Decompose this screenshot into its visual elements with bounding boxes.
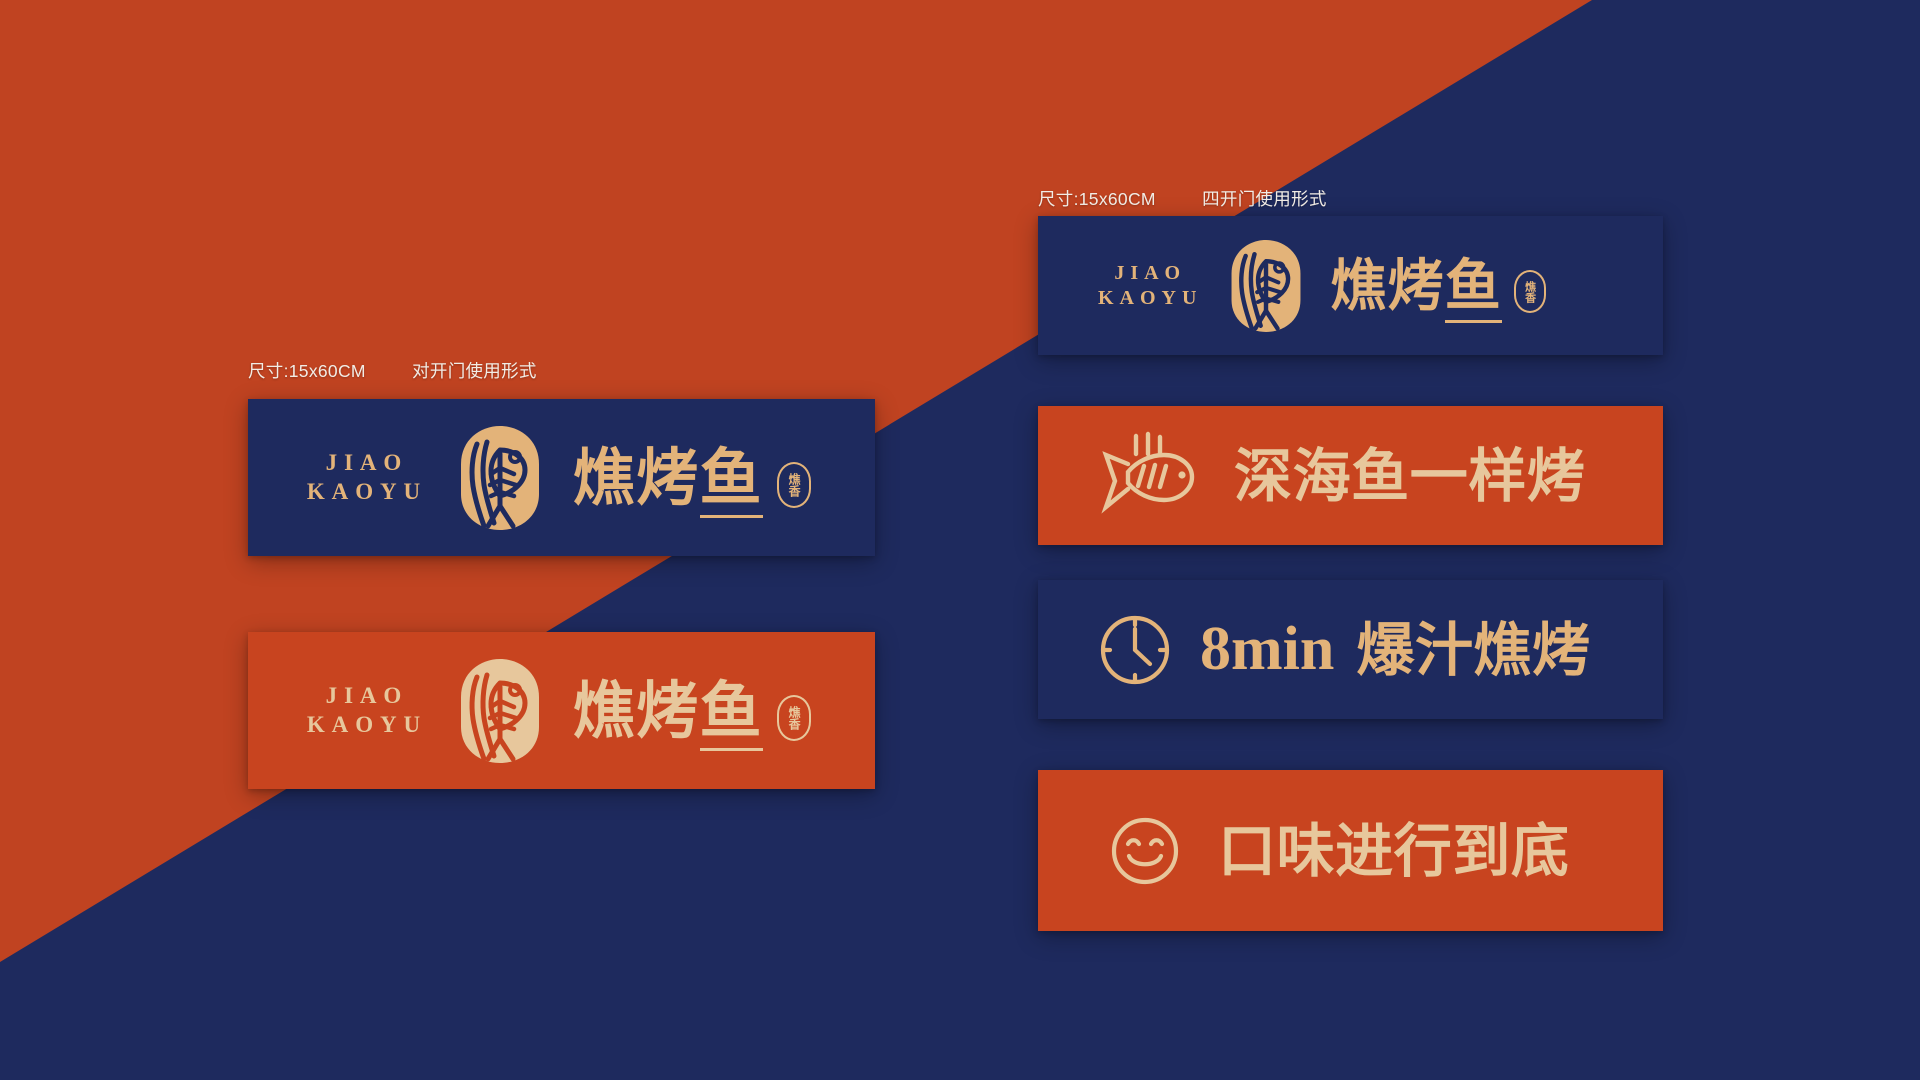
- panel-right-logo[interactable]: JIAO KAOYU 燋烤鱼: [1038, 216, 1663, 355]
- mockup-canvas: 尺寸:15x60CM 对开门使用形式 JIAO KAOYU: [0, 0, 1920, 1080]
- brand-lockup: JIAO KAOYU 燋烤鱼: [1038, 238, 1663, 334]
- caption-right-group: 尺寸:15x60CM 四开门使用形式: [1038, 186, 1327, 211]
- panel-right-slogan-deep-sea[interactable]: 深海鱼一样烤: [1038, 406, 1663, 545]
- caption-right-usage: 四开门使用形式: [1202, 189, 1327, 209]
- brand-seal-text: 燋香: [787, 706, 800, 730]
- slogan-latin: 8min: [1200, 614, 1334, 685]
- brand-pinyin: JIAO KAOYU: [1092, 261, 1202, 310]
- brand-seal-badge: 燋香: [777, 695, 811, 741]
- slogan-row: 深海鱼一样烤: [1038, 430, 1663, 522]
- clock-icon: [1096, 611, 1174, 689]
- brand-wordmark-char2: 烤: [1388, 253, 1445, 319]
- brand-wordmark-char3: 鱼: [1445, 253, 1502, 323]
- smiley-face-icon: [1108, 814, 1182, 888]
- fish-seal-emblem-icon: [457, 424, 543, 532]
- brand-pinyin: JIAO KAOYU: [300, 682, 427, 738]
- slogan-text: 爆汁燋烤: [1356, 621, 1590, 679]
- fish-with-steam-icon: [1092, 430, 1200, 522]
- fish-seal-emblem-icon: [457, 657, 543, 765]
- brand-seal-char1: 燋: [787, 706, 801, 718]
- brand-wordmark: 燋烤鱼: [573, 680, 763, 742]
- brand-seal-char1: 燋: [1524, 281, 1537, 292]
- brand-wordmark-char2: 烤: [636, 441, 699, 514]
- fish-seal-emblem-icon: [1228, 238, 1304, 334]
- brand-wordmark-char3: 鱼: [700, 441, 763, 518]
- panel-left-orange-logo[interactable]: JIAO KAOYU 燋烤鱼: [248, 632, 875, 789]
- brand-wordmark-char2: 烤: [636, 674, 699, 747]
- brand-pinyin-line2: KAOYU: [1092, 286, 1202, 310]
- brand-seal-char1: 燋: [787, 473, 801, 485]
- brand-seal-char2: 香: [1524, 292, 1537, 303]
- brand-seal-badge: 燋香: [1514, 270, 1546, 313]
- brand-wordmark: 燋烤鱼: [573, 447, 763, 509]
- brand-wordmark-char1: 燋: [573, 674, 636, 747]
- brand-pinyin-line2: KAOYU: [300, 478, 427, 506]
- brand-seal-text: 燋香: [787, 473, 800, 497]
- slogan-text: 口味进行到底: [1218, 822, 1569, 880]
- brand-wordmark-char1: 燋: [1330, 253, 1387, 319]
- brand-wordmark-char1: 燋: [573, 441, 636, 514]
- brand-pinyin-line1: JIAO: [1092, 261, 1202, 285]
- slogan-row: 口味进行到底: [1038, 814, 1663, 888]
- panel-right-slogan-taste[interactable]: 口味进行到底: [1038, 770, 1663, 931]
- brand-pinyin: JIAO KAOYU: [300, 449, 427, 505]
- brand-wordmark: 燋烤鱼: [1330, 258, 1501, 314]
- caption-left-size: 尺寸:15x60CM: [248, 361, 366, 381]
- caption-right-size: 尺寸:15x60CM: [1038, 189, 1156, 209]
- brand-lockup: JIAO KAOYU 燋烤鱼: [248, 657, 875, 765]
- brand-seal-badge: 燋香: [777, 462, 811, 508]
- brand-lockup: JIAO KAOYU 燋烤鱼: [248, 424, 875, 532]
- brand-seal-char2: 香: [787, 485, 801, 497]
- caption-left-usage: 对开门使用形式: [412, 361, 537, 381]
- brand-wordmark-char3: 鱼: [700, 674, 763, 751]
- caption-left-group: 尺寸:15x60CM 对开门使用形式: [248, 358, 537, 383]
- slogan-row: 8min 爆汁燋烤: [1038, 611, 1663, 689]
- brand-pinyin-line1: JIAO: [300, 449, 427, 477]
- brand-pinyin-line2: KAOYU: [300, 711, 427, 739]
- slogan-text: 深海鱼一样烤: [1234, 447, 1585, 505]
- brand-seal-text: 燋香: [1524, 281, 1536, 303]
- brand-pinyin-line1: JIAO: [300, 682, 427, 710]
- panel-right-slogan-8min[interactable]: 8min 爆汁燋烤: [1038, 580, 1663, 719]
- panel-left-navy-logo[interactable]: JIAO KAOYU 燋烤鱼: [248, 399, 875, 556]
- brand-seal-char2: 香: [787, 718, 801, 730]
